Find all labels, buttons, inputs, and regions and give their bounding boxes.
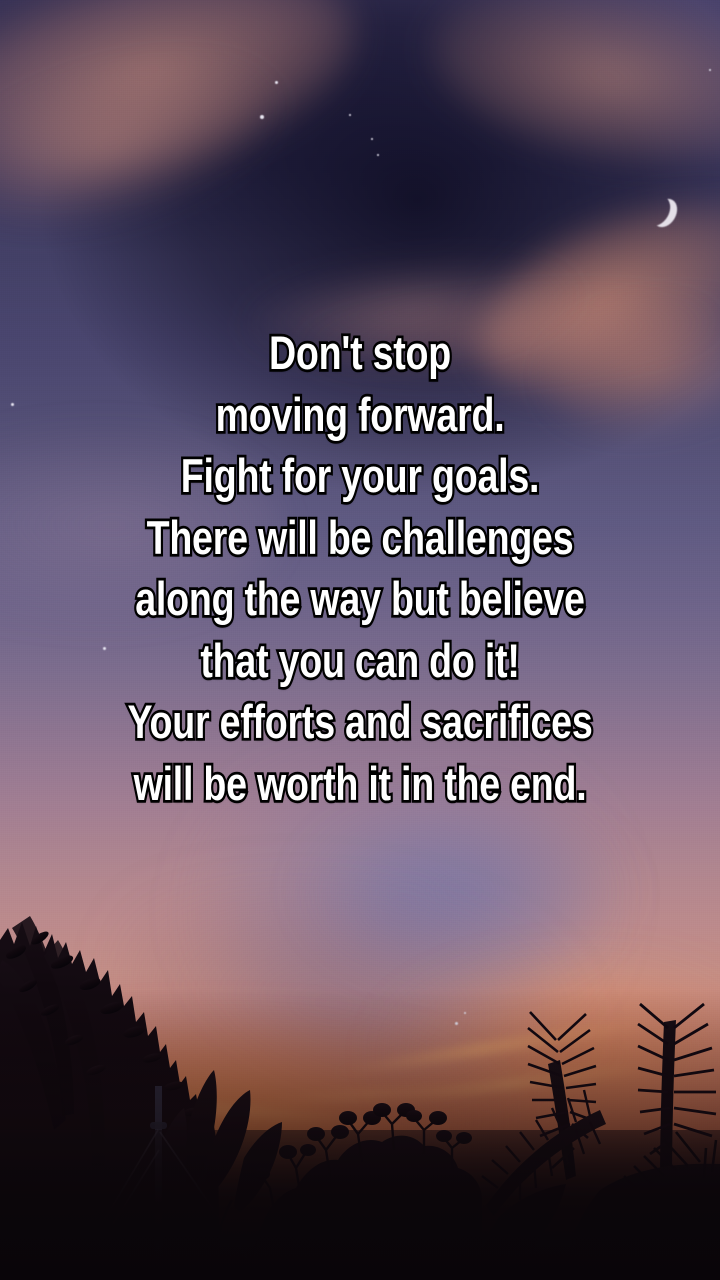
quote-line: There will be challenges	[72, 507, 648, 569]
quote-line: will be worth it in the end.	[72, 753, 648, 815]
quote-line: Don't stop	[72, 322, 648, 384]
quote-text-block: Don't stop moving forward. Fight for you…	[0, 322, 720, 814]
quote-line: that you can do it!	[72, 630, 648, 692]
quote-line: moving forward.	[72, 384, 648, 446]
quote-line: Your efforts and sacrifices	[72, 691, 648, 753]
quote-line: Fight for your goals.	[72, 445, 648, 507]
quote-image-canvas: Don't stop moving forward. Fight for you…	[0, 0, 720, 1280]
ground-vignette	[0, 1130, 720, 1280]
quote-line: along the way but believe	[72, 568, 648, 630]
